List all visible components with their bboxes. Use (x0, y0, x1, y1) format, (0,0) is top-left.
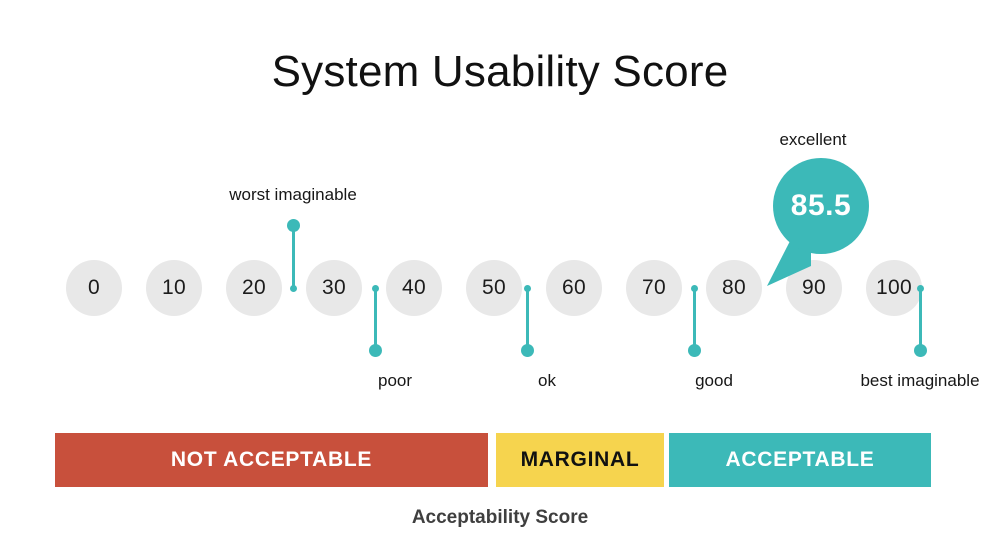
marker-stem (292, 226, 295, 288)
marker-endpoint-dot (688, 344, 701, 357)
band-marginal: MARGINAL (496, 433, 664, 487)
scale-circle-100: 100 (866, 260, 922, 316)
scale-circle-30: 30 (306, 260, 362, 316)
marker-anchor-dot (524, 285, 531, 292)
marker-stem (526, 288, 529, 350)
scale-circle-10: 10 (146, 260, 202, 316)
marker-label: good (614, 371, 814, 391)
score-bubble-circle: 85.5 (773, 158, 869, 254)
marker-stem (919, 288, 922, 350)
page-title: System Usability Score (0, 47, 1000, 98)
score-value: 85.5 (791, 189, 851, 223)
sus-infographic: System Usability Score 01020304050607080… (0, 0, 1000, 556)
scale-circle-80: 80 (706, 260, 762, 316)
marker-stem (374, 288, 377, 350)
scale-circle-40: 40 (386, 260, 442, 316)
scale-circle-60: 60 (546, 260, 602, 316)
scale-circle-70: 70 (626, 260, 682, 316)
marker-label: best imaginable (820, 371, 1000, 391)
scale-circle-0: 0 (66, 260, 122, 316)
score-bubble-label: excellent (713, 130, 913, 150)
marker-anchor-dot (917, 285, 924, 292)
marker-endpoint-dot (369, 344, 382, 357)
marker-endpoint-dot (914, 344, 927, 357)
scale-circle-50: 50 (466, 260, 522, 316)
marker-endpoint-dot (287, 219, 300, 232)
marker-anchor-dot (372, 285, 379, 292)
acceptability-score-caption: Acceptability Score (0, 507, 1000, 529)
marker-stem (693, 288, 696, 350)
marker-endpoint-dot (521, 344, 534, 357)
band-not-acceptable: NOT ACCEPTABLE (55, 433, 488, 487)
scale-circle-20: 20 (226, 260, 282, 316)
marker-anchor-dot (290, 285, 297, 292)
band-acceptable: ACCEPTABLE (669, 433, 931, 487)
marker-label: worst imaginable (193, 185, 393, 205)
marker-anchor-dot (691, 285, 698, 292)
